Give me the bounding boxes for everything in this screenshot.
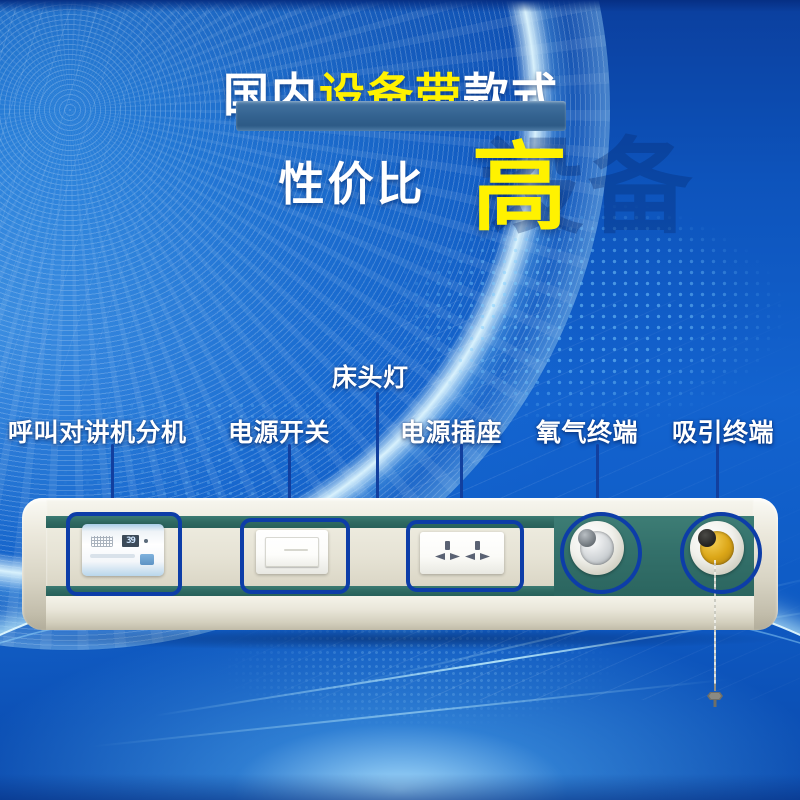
callout-label-intercom: 呼叫对讲机分机 [8, 413, 187, 449]
highlight-box-power-socket [406, 520, 524, 592]
headline-block: 国内设备带款式 性价比 高 [0, 72, 800, 228]
panel-lower-rail [46, 596, 754, 630]
callout-label-power-switch: 电源开关 [228, 413, 330, 449]
poster-canvas: 设备 国内设备带款式 性价比 高 呼叫对讲机分机 电源开关 床头灯 电源插座 氧… [0, 0, 800, 800]
pull-cord-handle-icon[interactable] [699, 684, 731, 710]
light-streak [92, 679, 729, 748]
callout-label-suction-terminal: 吸引终端 [672, 413, 774, 449]
callout-label-power-socket: 电源插座 [400, 413, 502, 449]
callout-label-bedside-lamp: 床头灯 [332, 358, 409, 394]
bottom-vignette [0, 774, 800, 800]
headline-value-phrase: 性价比 [279, 161, 426, 207]
callout-label-oxygen-terminal: 氧气终端 [536, 413, 638, 449]
headline-emphasis-character: 高 [472, 144, 568, 232]
highlight-box-power-switch [240, 518, 350, 594]
panel-drop-shadow [20, 628, 780, 650]
highlight-circle-oxygen [560, 512, 642, 594]
highlight-circle-suction [680, 512, 762, 594]
headline-line-2: 性价比 高 [0, 140, 800, 228]
bedside-lamp-diffuser[interactable] [236, 101, 566, 131]
highlight-box-intercom [66, 512, 182, 596]
top-vignette [0, 0, 800, 12]
